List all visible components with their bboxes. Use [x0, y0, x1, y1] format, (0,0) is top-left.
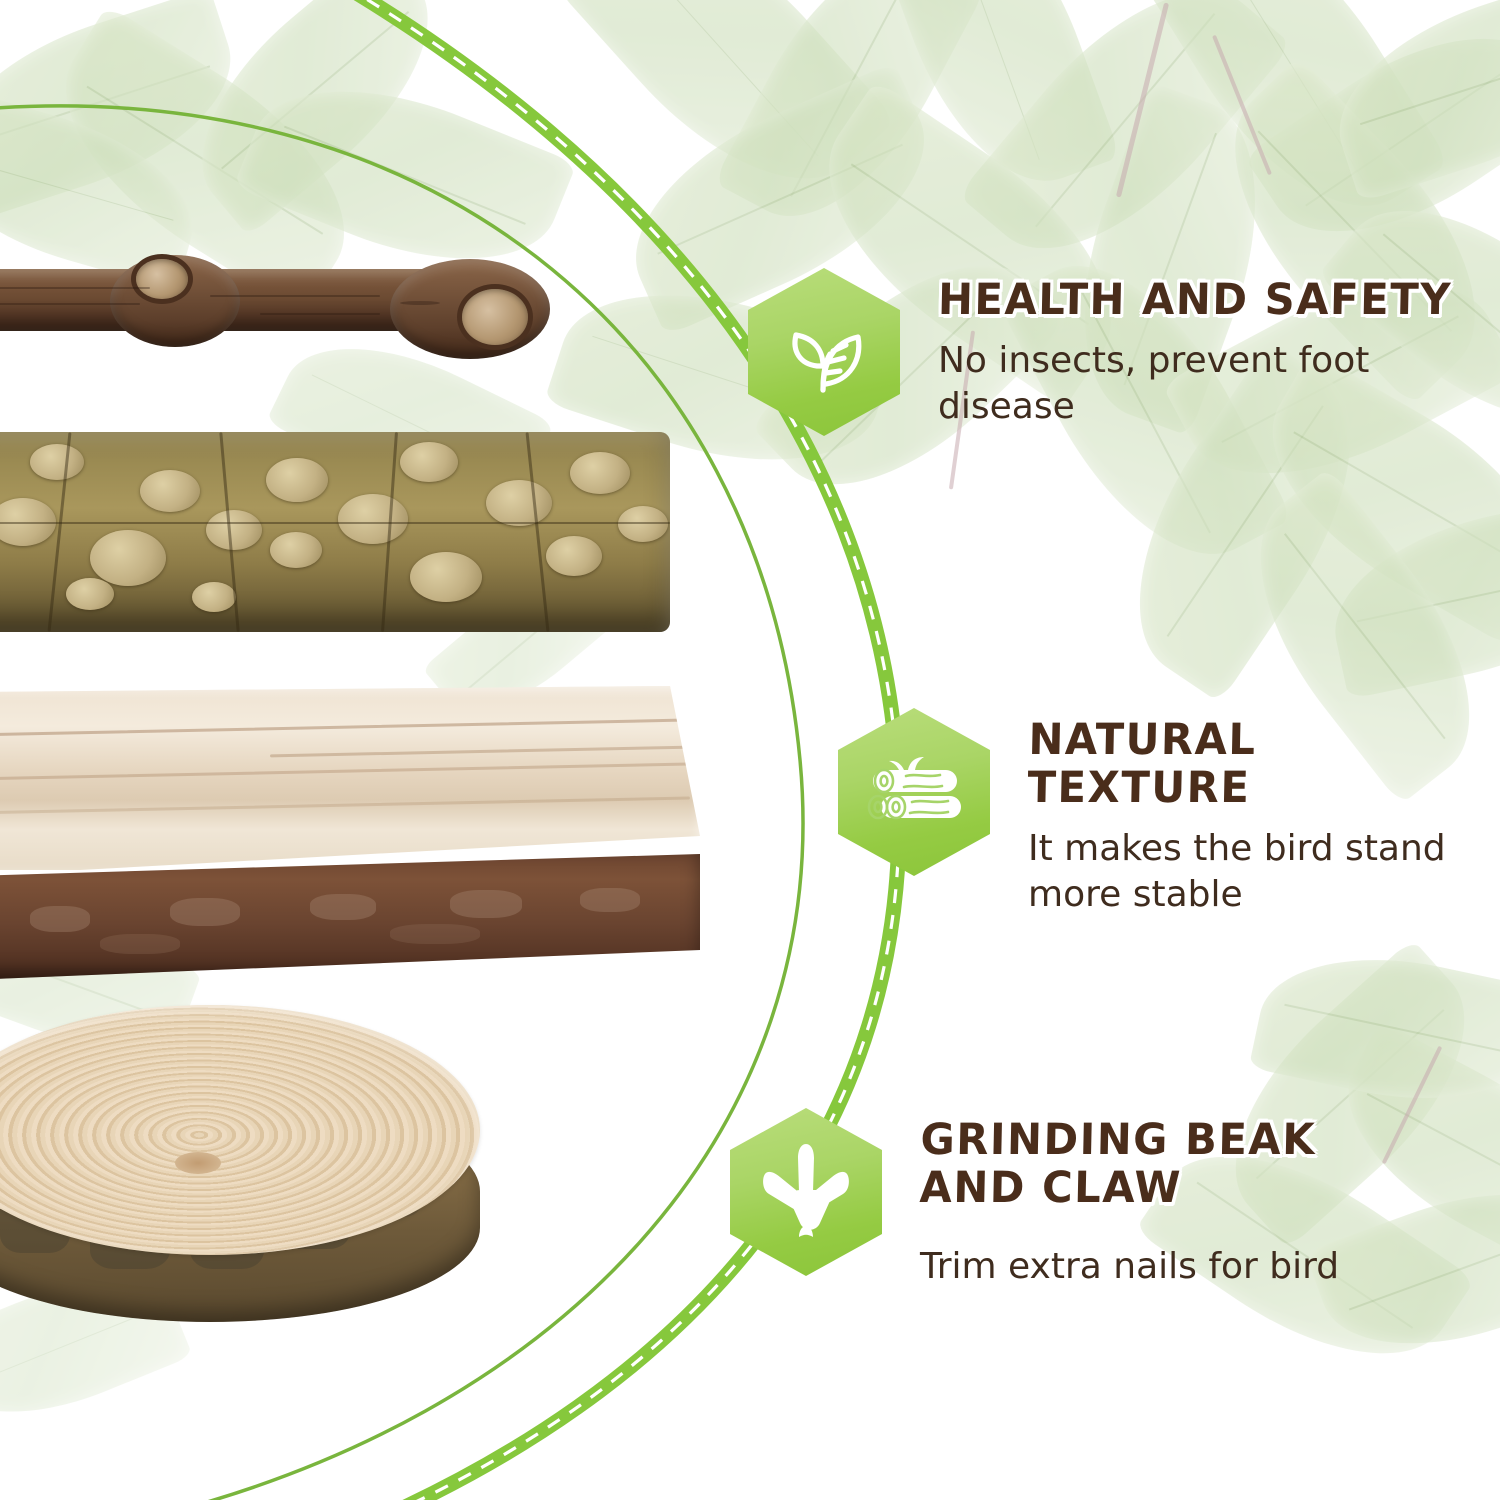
bark-bump: [546, 536, 602, 576]
bark-bump: [192, 582, 236, 612]
background-stem: [1116, 2, 1169, 197]
bark-bump: [266, 458, 328, 502]
bark-chip: [580, 888, 640, 912]
feature-description: No insects, prevent foot disease: [938, 338, 1408, 430]
background-leaf: [159, 0, 471, 237]
branch-knot: [462, 289, 528, 345]
bark-chip: [450, 890, 522, 918]
bark-bump: [206, 510, 262, 550]
background-leaf: [1314, 1020, 1500, 1282]
bark-chip: [100, 934, 180, 954]
feature-title: HEALTH AND SAFETY: [938, 276, 1453, 324]
bark-bump: [338, 494, 408, 544]
feature-icon-hexagon: [730, 1108, 882, 1276]
bark-bump: [618, 506, 668, 542]
bark-crack: [526, 432, 550, 631]
bark-chip: [390, 924, 480, 944]
infographic-canvas: HEALTH AND SAFETY No insects, prevent fo…: [0, 0, 1500, 1500]
slice-core: [175, 1152, 221, 1174]
background-leaf: [553, 0, 896, 230]
background-leaf: [1249, 932, 1500, 1125]
background-leaf: [869, 0, 1121, 210]
bark-bump: [410, 552, 482, 602]
feature-title: NATURAL TEXTURE: [1027, 716, 1487, 812]
bark-crack: [0, 522, 670, 524]
product-photo-bark-stick: [0, 432, 670, 632]
branch-grain: [400, 301, 440, 305]
background-leaf: [958, 0, 1293, 298]
bark-bump: [400, 442, 458, 482]
product-photo-wood-slice: [0, 1005, 500, 1335]
background-leaf: [1130, 0, 1450, 250]
feature-description: It makes the bird stand more stable: [1028, 826, 1498, 918]
feature-text-block: NATURAL TEXTURE It makes the bird stand …: [1028, 708, 1500, 918]
branch-grain: [0, 287, 150, 289]
feature-icon-hexagon: [838, 708, 990, 876]
bark-chip: [310, 894, 376, 920]
product-photo-branch-perch: [0, 243, 600, 361]
feature-health-and-safety[interactable]: HEALTH AND SAFETY No insects, prevent fo…: [748, 268, 1468, 436]
bark-chip: [30, 906, 90, 932]
plank-grain: [0, 762, 690, 780]
bark-bump: [140, 470, 200, 512]
branch-grain: [0, 303, 140, 305]
bird-footprint-icon: [730, 1108, 882, 1276]
product-photo-flat-plank: [0, 686, 700, 986]
bark-bump: [66, 578, 114, 610]
feature-text-block: HEALTH AND SAFETY No insects, prevent fo…: [938, 268, 1468, 430]
branch-grain: [210, 295, 380, 297]
background-stem: [1382, 1046, 1443, 1165]
branch-knot: [136, 259, 188, 299]
stacked-logs-icon: [838, 708, 990, 876]
branch-grain: [260, 313, 380, 315]
bark-bump: [570, 452, 630, 494]
feature-text-block: GRINDING BEAK AND CLAW Trim extra nails …: [920, 1108, 1340, 1290]
plank-bark-edge: [0, 854, 700, 980]
plank-grain: [0, 718, 690, 736]
background-leaf: [1314, 0, 1500, 203]
background-leaf: [1318, 490, 1500, 699]
bark-bump: [30, 444, 84, 480]
leaf-sprout-icon: [748, 268, 900, 436]
background-leaf: [0, 0, 256, 223]
bark-bump: [486, 480, 552, 526]
plank-grain: [0, 796, 690, 814]
background-stem: [1212, 35, 1272, 176]
background-leaf: [1244, 0, 1500, 281]
bark-chip: [170, 898, 240, 926]
feature-grinding-beak-and-claw[interactable]: GRINDING BEAK AND CLAW Trim extra nails …: [730, 1108, 1340, 1290]
bark-bump: [270, 532, 322, 568]
plank-grain: [270, 746, 690, 758]
feature-description: Trim extra nails for bird: [920, 1244, 1340, 1290]
background-leaf: [713, 0, 986, 253]
feature-icon-hexagon: [748, 268, 900, 436]
feature-title: GRINDING BEAK AND CLAW: [919, 1116, 1328, 1212]
plank-top-surface: [0, 686, 700, 870]
feature-natural-texture[interactable]: NATURAL TEXTURE It makes the bird stand …: [838, 708, 1500, 918]
bark-bump: [90, 530, 166, 586]
